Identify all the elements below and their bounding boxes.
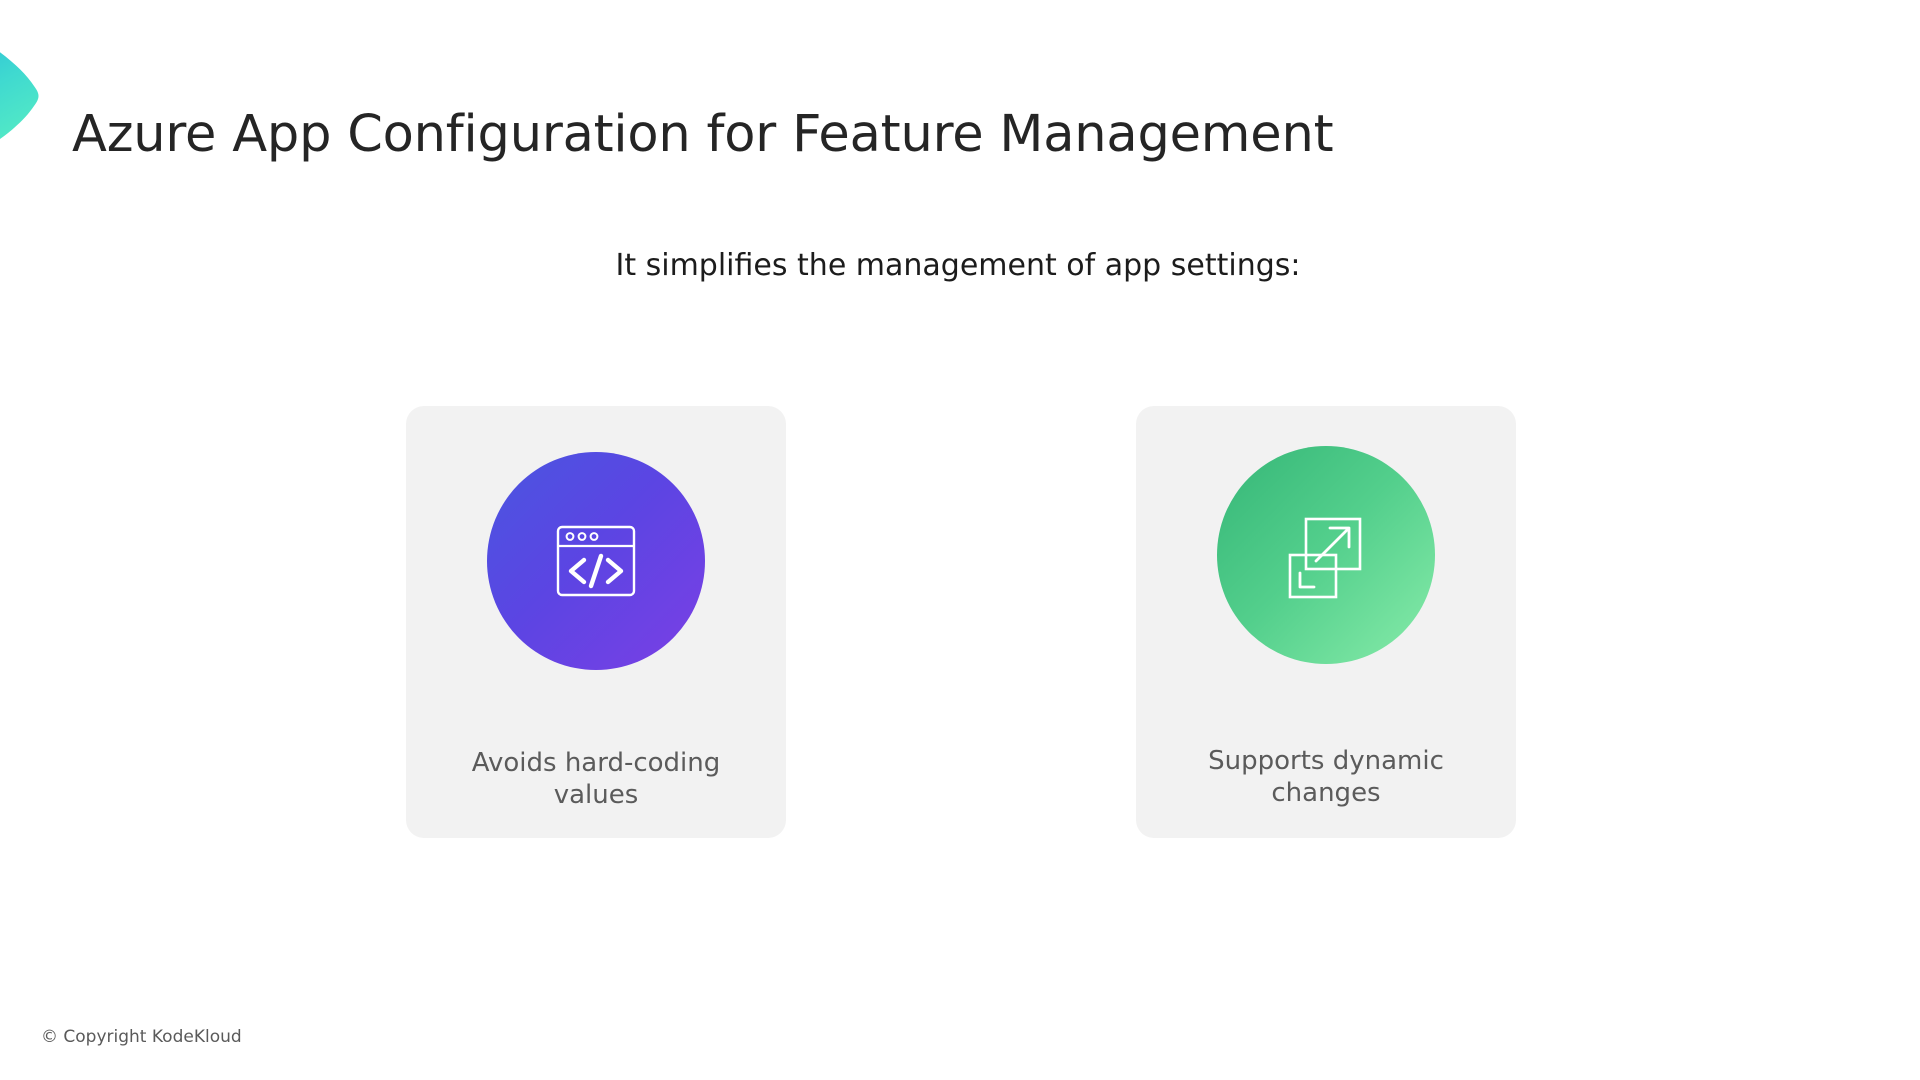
- code-window-icon: [548, 513, 644, 609]
- subtitle-text: It simplifies the management of app sett…: [615, 248, 1300, 283]
- feature-card-label: Avoids hard-coding values: [446, 748, 746, 811]
- icon-circle-code: [487, 452, 705, 670]
- expand-arrow-icon: [1276, 505, 1376, 605]
- feature-card-label: Supports dynamic changes: [1176, 746, 1476, 809]
- footer-copyright: © Copyright KodeKloud: [41, 1027, 242, 1047]
- chevron-logo-icon: [0, 12, 64, 172]
- feature-card-row: Avoids hard-coding values Supports dynam…: [406, 406, 1516, 846]
- page-title: Azure App Configuration for Feature Mana…: [72, 106, 1333, 165]
- feature-card-supports-dynamic: Supports dynamic changes: [1136, 406, 1516, 838]
- feature-card-avoids-hard-coding: Avoids hard-coding values: [406, 406, 786, 838]
- icon-circle-expand: [1217, 446, 1435, 664]
- subtitle: It simplifies the management of app sett…: [0, 248, 1920, 283]
